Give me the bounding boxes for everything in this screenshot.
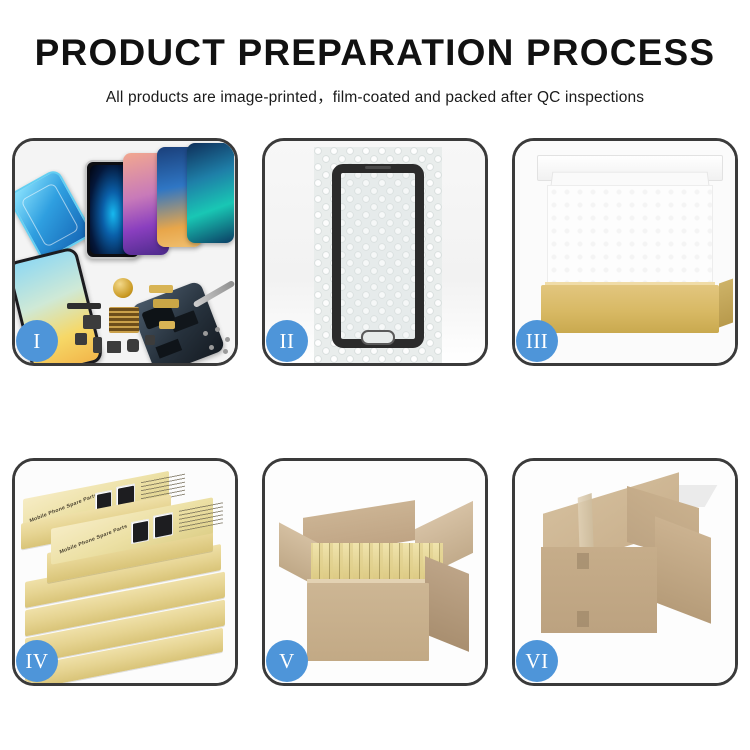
kraft-box-front [541, 285, 719, 333]
box-art-screen-4 [153, 512, 173, 539]
panel-2-step-badge: II [266, 320, 308, 362]
process-panel-1[interactable]: I [12, 138, 238, 366]
vibration-motor-part [113, 278, 133, 298]
screws-group [201, 327, 235, 357]
panel-3-step-badge: III [516, 320, 558, 362]
carton-front-panel [307, 583, 429, 661]
process-panel-5[interactable]: V [262, 458, 488, 686]
page-subtitle: All products are image-printed，film-coat… [0, 85, 750, 107]
panel-5-step-badge: V [266, 640, 308, 682]
connector-grid-part [109, 307, 139, 333]
carton-handle-notch-bottom [577, 611, 589, 627]
retail-box-label-front: Mobile Phone Spare Parts [59, 524, 128, 556]
panel-4-step-badge: IV [16, 640, 58, 682]
kraft-box-side [719, 278, 733, 327]
page-title: PRODUCT PREPARATION PROCESS [0, 34, 750, 73]
taptic-part [127, 339, 139, 352]
bubble-wrap-photo [314, 147, 442, 363]
sim-tray-part [93, 337, 102, 353]
camera-module-part [83, 315, 101, 329]
flex-strip-part [67, 303, 101, 309]
antenna-flex-part [159, 321, 175, 329]
box-art-screen-3 [131, 519, 149, 544]
panel-1-step-badge: I [16, 320, 58, 362]
carton-handle-notch-top [577, 553, 589, 569]
flex-cable-part-b [153, 299, 179, 308]
panel-6-step-badge: VI [516, 640, 558, 682]
wrapped-front-glass [332, 164, 424, 348]
box-spec-lines-front [179, 501, 223, 532]
home-button-cutout [361, 330, 395, 345]
process-panel-6[interactable]: VI [512, 458, 738, 686]
spare-parts-cluster [67, 281, 185, 363]
flex-cable-part-a [149, 285, 173, 293]
ic-chip-part [107, 341, 121, 353]
process-panel-grid: I II III [12, 138, 738, 686]
phone-teal-display [187, 143, 234, 243]
page-header: PRODUCT PREPARATION PROCESS All products… [0, 0, 750, 107]
small-chip-part [145, 335, 155, 345]
process-panel-4[interactable]: Mobile Phone Spare Parts Mobile Phone Sp… [12, 458, 238, 686]
process-panel-2[interactable]: II [262, 138, 488, 366]
speaker-part [75, 333, 87, 345]
process-panel-3[interactable]: III [512, 138, 738, 366]
sealed-carton-front-panel [541, 547, 657, 633]
